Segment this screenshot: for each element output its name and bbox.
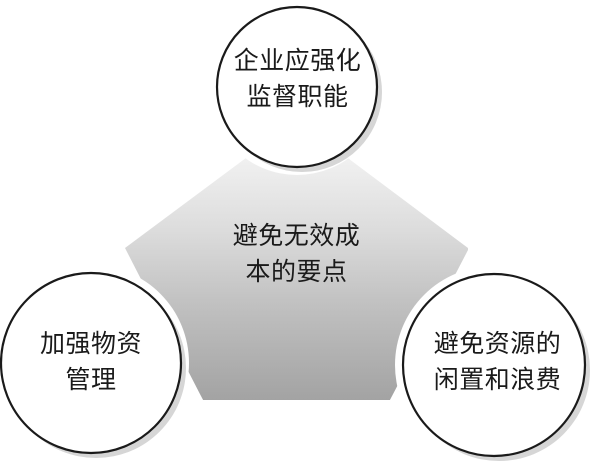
node-circle-bottom-right[interactable] (403, 274, 590, 461)
diagram-canvas: 避免无效成 本的要点 企业应强化 监督职能 加强物资 管理 避免资源的 闲置和浪… (0, 0, 600, 474)
node-circle-top[interactable] (217, 7, 382, 172)
diagram-graphics (0, 0, 600, 474)
